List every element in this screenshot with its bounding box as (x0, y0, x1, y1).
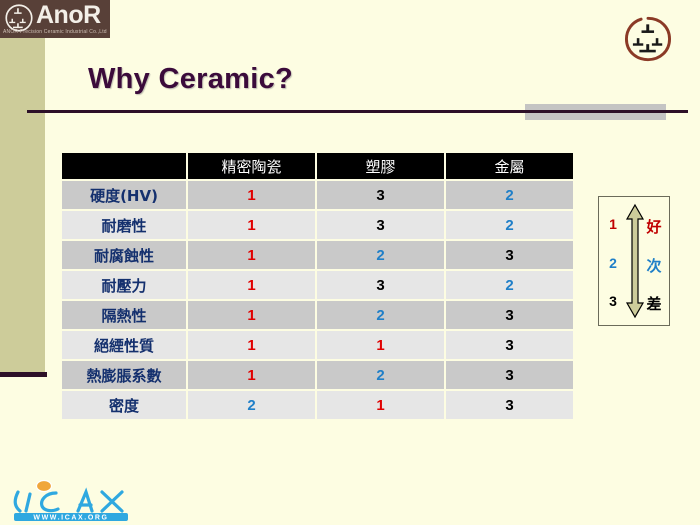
column-header-ceramic: 精密陶瓷 (188, 153, 315, 179)
row-label: 耐腐蝕性 (62, 241, 186, 269)
legend-number: 2 (605, 255, 621, 271)
table-row: 熱膨脹系數 1 2 3 (62, 361, 573, 389)
cell-value: 1 (188, 241, 315, 269)
cell-value: 2 (446, 211, 573, 239)
title-divider-line (27, 110, 688, 113)
row-label: 絕緸性質 (62, 331, 186, 359)
row-label: 耐磨性 (62, 211, 186, 239)
cell-value: 2 (317, 301, 444, 329)
legend-number: 1 (605, 216, 621, 232)
left-decorative-band (0, 30, 45, 372)
legend-word: 好 (644, 216, 664, 237)
cell-value: 2 (188, 391, 315, 419)
table-body: 硬度(HV) 1 3 2 耐磨性 1 3 2 耐腐蝕性 1 2 3 耐壓力 1 … (62, 181, 573, 419)
corporate-wordmark: AnoR (36, 0, 101, 30)
table-row: 絕緸性質 1 1 3 (62, 331, 573, 359)
column-header-plastic: 塑膠 (317, 153, 444, 179)
left-band-rule (0, 372, 47, 377)
cell-value: 1 (188, 301, 315, 329)
table-row: 耐壓力 1 3 2 (62, 271, 573, 299)
cell-value: 1 (188, 211, 315, 239)
row-label: 熱膨脹系數 (62, 361, 186, 389)
table-row: 隔熱性 1 2 3 (62, 301, 573, 329)
row-label: 耐壓力 (62, 271, 186, 299)
brand-seal-icon (622, 14, 674, 64)
cell-value: 1 (317, 331, 444, 359)
cell-value: 3 (446, 391, 573, 419)
cell-value: 2 (317, 361, 444, 389)
table-row: 耐腐蝕性 1 2 3 (62, 241, 573, 269)
table-row: 硬度(HV) 1 3 2 (62, 181, 573, 209)
cell-value: 1 (188, 331, 315, 359)
cell-value: 2 (317, 241, 444, 269)
corporate-logo: AnoR ANOR Precision Ceramic Industrial C… (0, 0, 110, 38)
table-header-row: 精密陶瓷 塑膠 金屬 (62, 153, 573, 179)
legend-word: 差 (644, 293, 664, 314)
row-label: 密度 (62, 391, 186, 419)
corporate-tagline: ANOR Precision Ceramic Industrial Co.,Lt… (3, 29, 107, 35)
cell-value: 3 (317, 181, 444, 209)
cell-value: 1 (317, 391, 444, 419)
table-header: 精密陶瓷 塑膠 金屬 (62, 153, 573, 179)
cell-value: 1 (188, 361, 315, 389)
cell-value: 3 (317, 271, 444, 299)
cell-value: 3 (446, 331, 573, 359)
table-row: 耐磨性 1 3 2 (62, 211, 573, 239)
column-header-metal: 金屬 (446, 153, 573, 179)
ranking-legend: 1 好 2 次 3 差 (598, 196, 670, 326)
legend-number: 3 (605, 293, 621, 309)
cell-value: 1 (188, 271, 315, 299)
slide-canvas: AnoR ANOR Precision Ceramic Industrial C… (0, 0, 700, 525)
double-arrow-icon (625, 203, 645, 319)
cell-value: 1 (188, 181, 315, 209)
cell-value: 3 (446, 241, 573, 269)
cell-value: 2 (446, 181, 573, 209)
icax-url-text: WWW.ICAX.ORG (33, 515, 108, 522)
table-row: 密度 2 1 3 (62, 391, 573, 419)
table-corner-cell (62, 153, 186, 179)
cell-value: 3 (317, 211, 444, 239)
page-title: Why Ceramic? (88, 63, 293, 96)
cell-value: 3 (446, 301, 573, 329)
legend-word: 次 (644, 255, 664, 276)
row-label: 隔熱性 (62, 301, 186, 329)
cell-value: 3 (446, 361, 573, 389)
cell-value: 2 (446, 271, 573, 299)
material-comparison-table: 精密陶瓷 塑膠 金屬 硬度(HV) 1 3 2 耐磨性 1 3 2 耐腐蝕性 1… (60, 151, 575, 421)
row-label: 硬度(HV) (62, 181, 186, 209)
icax-watermark-logo: WWW.ICAX.ORG (6, 478, 134, 522)
